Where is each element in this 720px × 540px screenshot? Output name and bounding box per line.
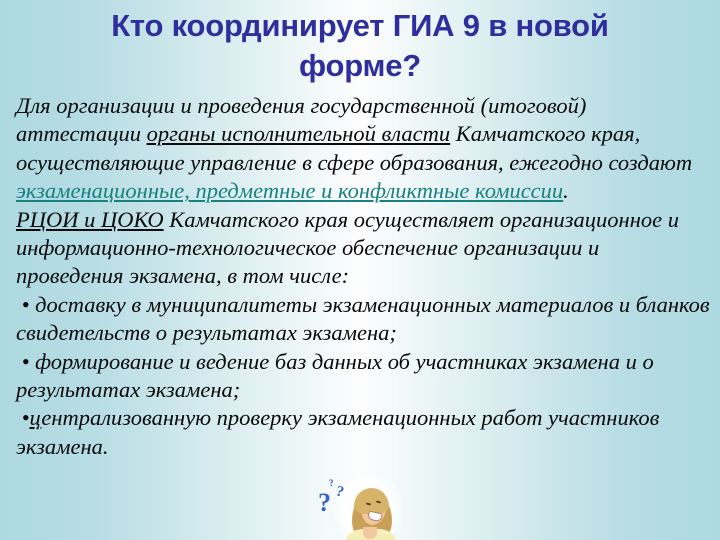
slide-body: Для организации и проведения государстве… [16, 92, 710, 461]
neck-shape [363, 527, 377, 539]
photo-oval-frame [330, 473, 404, 540]
text-run-plain: ентрализованную проверку экзаменационных… [16, 405, 665, 458]
text-run-underline: РЦОИ и ЦОКО [16, 207, 164, 232]
text-run-plain: • доставку в муниципалитеты экзаменацион… [16, 292, 715, 345]
text-run-plain: . [563, 178, 569, 203]
laughing-woman-photo: ? ? ? [312, 473, 408, 540]
slide-canvas: Кто координирует ГИА 9 в новой форме? Дл… [0, 0, 720, 540]
text-run-teal-underline: экзаменационные, предметные и конфликтны… [16, 178, 563, 203]
bullet-item-3: •централизованную проверку экзаменационн… [16, 404, 710, 461]
bullet-item-1: • доставку в муниципалитеты экзаменацион… [16, 291, 710, 348]
text-run-underline: ц [30, 405, 42, 430]
hair-top-shape [354, 488, 389, 514]
bullet-item-2: • формирование и ведение баз данных об у… [16, 348, 710, 405]
text-run-plain: • [16, 405, 30, 430]
paragraph-1: Для организации и проведения государстве… [16, 92, 710, 206]
question-mark-icon-large: ? [318, 490, 331, 516]
text-run-underline: органы исполнительной власти [147, 121, 451, 146]
slide-title: Кто координирует ГИА 9 в новой форме? [18, 6, 702, 86]
question-mark-icon-small: ? [328, 479, 334, 490]
text-run-plain: • формирование и ведение баз данных об у… [16, 349, 659, 402]
paragraph-2: РЦОИ и ЦОКО Камчатского края осуществляе… [16, 206, 710, 291]
